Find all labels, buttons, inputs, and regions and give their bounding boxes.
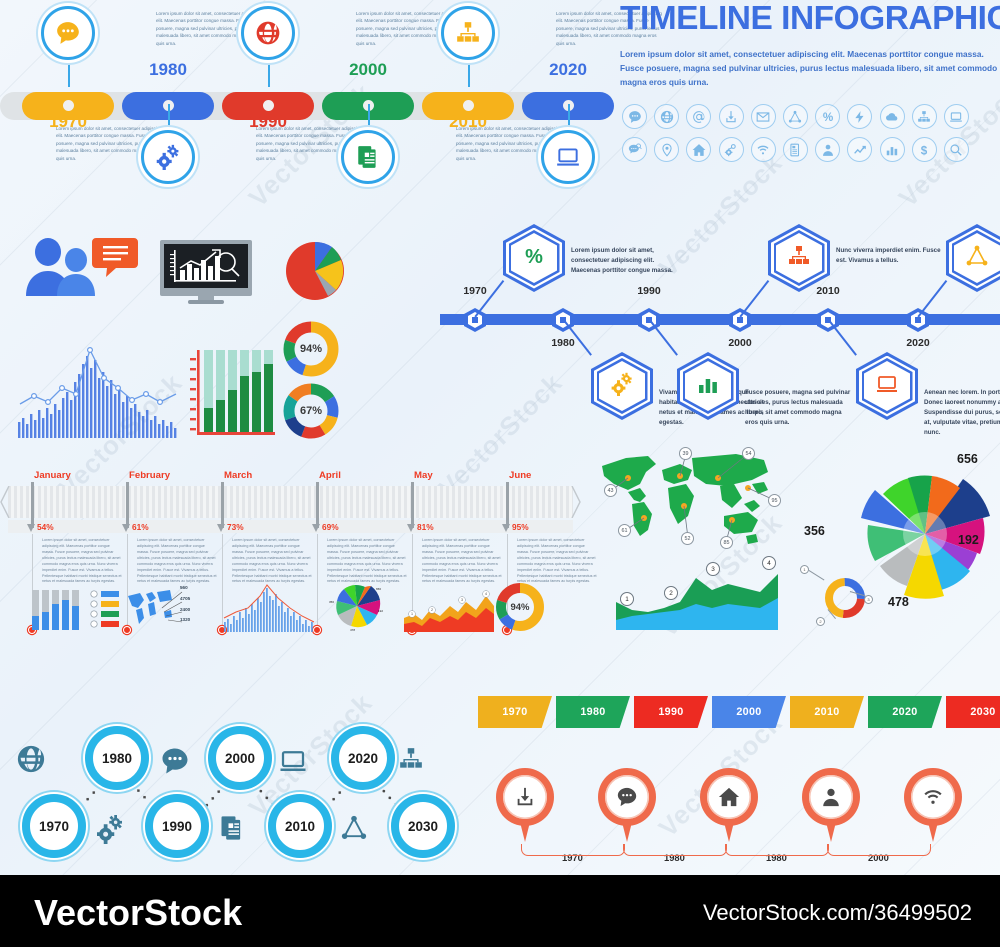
hex-description: Aenean nec lorem. In porttitor. Donec la… bbox=[924, 388, 1000, 438]
april-rose-chart: 656192 478356 bbox=[328, 578, 386, 634]
circle-year-label: 2030 bbox=[408, 819, 438, 834]
comment-search-icon[interactable] bbox=[622, 137, 647, 162]
area-marker[interactable]: 3 bbox=[706, 562, 720, 576]
svg-text:$: $ bbox=[921, 144, 928, 157]
donut-callout: 1 bbox=[800, 565, 809, 574]
month-stem bbox=[126, 482, 129, 528]
february-legend: 560470524001320 bbox=[180, 586, 220, 629]
timeline-icon-circle[interactable] bbox=[141, 130, 195, 184]
ribbon-year-label: 2020 bbox=[892, 706, 917, 718]
download-icon bbox=[503, 775, 547, 819]
hex-icon-badge[interactable] bbox=[946, 224, 1000, 292]
month-description: Lorem ipsum dolor sit amet, consectetuer… bbox=[42, 538, 122, 585]
hex-year: 2020 bbox=[901, 337, 935, 349]
laptop-icon bbox=[278, 746, 308, 781]
map-point-label[interactable]: 85 bbox=[720, 536, 733, 549]
svg-text:1: 1 bbox=[411, 612, 413, 616]
network-triangle-icon[interactable] bbox=[783, 104, 808, 129]
pin-hook bbox=[521, 844, 625, 856]
area-chart-markers: 1234 bbox=[612, 560, 782, 630]
hex-year: 2000 bbox=[723, 337, 757, 349]
svg-text:%: % bbox=[525, 246, 543, 268]
hex-year: 1990 bbox=[632, 285, 666, 297]
chat-icon bbox=[605, 775, 649, 819]
svg-text:2: 2 bbox=[431, 608, 433, 612]
month-description: Lorem ipsum dolor sit amet, consectetuer… bbox=[137, 538, 217, 585]
donut-callout: 2 bbox=[816, 617, 825, 626]
timeline-stem bbox=[568, 104, 570, 132]
map-point-label[interactable]: 54 bbox=[742, 447, 755, 460]
ribbon-year[interactable]: 2030 bbox=[946, 696, 1000, 728]
month-label: January bbox=[34, 470, 71, 481]
hex-icon-badge[interactable] bbox=[856, 352, 918, 420]
circle-year-label: 1980 bbox=[102, 751, 132, 766]
june-donut-label: 94% bbox=[495, 582, 545, 632]
rose-label-478: 478 bbox=[888, 595, 909, 609]
gear-link-icon[interactable] bbox=[719, 137, 744, 162]
circle-year-2000[interactable]: 2000 bbox=[208, 726, 272, 790]
footer-url: VectorStock.com/36499502 bbox=[703, 900, 972, 926]
month-label: February bbox=[129, 470, 170, 481]
gears-icon bbox=[95, 814, 125, 849]
month-arrow bbox=[27, 524, 35, 532]
february-legend-value: 560 bbox=[180, 586, 220, 591]
circle-year-2020[interactable]: 2020 bbox=[331, 726, 395, 790]
circle-year-2030[interactable]: 2030 bbox=[391, 794, 455, 858]
timeline-icon-circle[interactable] bbox=[441, 6, 495, 60]
wifi-icon bbox=[911, 775, 955, 819]
svg-text:192: 192 bbox=[378, 609, 383, 613]
timeline-stem bbox=[368, 104, 370, 132]
map-point-label[interactable]: 52 bbox=[681, 532, 694, 545]
hex-description: Nunc viverra imperdiet enim. Fusce est. … bbox=[836, 246, 944, 266]
icon-row-1: % bbox=[622, 104, 969, 129]
ribbon-year-label: 2000 bbox=[736, 706, 761, 718]
page-title-block: TIMELINE INFOGRAPHICS Lorem ipsum dolor … bbox=[620, 2, 998, 89]
laptop-icon[interactable] bbox=[944, 104, 969, 129]
cloud-icon[interactable] bbox=[880, 104, 905, 129]
timeline-segment-dot bbox=[463, 100, 474, 111]
user-icon bbox=[809, 775, 853, 819]
rose-label-656: 656 bbox=[957, 452, 978, 466]
january-legend bbox=[90, 590, 122, 630]
month-arrow bbox=[502, 524, 510, 532]
timeline-segment-dot bbox=[263, 100, 274, 111]
world-map-labels: 43613952549585 bbox=[596, 442, 796, 562]
hex-leader-line bbox=[739, 280, 769, 317]
month-label: May bbox=[414, 470, 433, 481]
month-label: June bbox=[509, 470, 531, 481]
month-percent: 73% bbox=[227, 522, 244, 532]
documents-icon bbox=[218, 814, 246, 847]
ribbon-year-label: 1990 bbox=[658, 706, 683, 718]
circle-year-label: 1990 bbox=[162, 819, 192, 834]
hex-icon-badge[interactable] bbox=[677, 352, 739, 420]
mail-icon[interactable] bbox=[751, 104, 776, 129]
hex-year: 1970 bbox=[458, 285, 492, 297]
month-label: March bbox=[224, 470, 252, 481]
bar-chart-icon[interactable] bbox=[880, 137, 905, 162]
area-marker[interactable]: 2 bbox=[664, 586, 678, 600]
donut-94-label: 94% bbox=[282, 320, 340, 378]
month-stem bbox=[31, 482, 34, 528]
march-chart bbox=[222, 582, 317, 632]
ribbon-year[interactable]: 1970 bbox=[478, 696, 552, 728]
map-point-label[interactable]: 61 bbox=[618, 524, 631, 537]
circle-year-label: 2020 bbox=[348, 751, 378, 766]
search-icon[interactable] bbox=[944, 137, 969, 162]
footer-bar: VectorStock VectorStock.com/36499502 bbox=[0, 875, 1000, 947]
february-legend-value: 2400 bbox=[180, 608, 220, 613]
map-pin-home-icon[interactable] bbox=[700, 768, 758, 844]
green-bar-chart bbox=[186, 346, 276, 440]
ribbon-year-label: 1980 bbox=[580, 706, 605, 718]
page-title: TIMELINE INFOGRAPHICS bbox=[620, 2, 998, 36]
svg-text:356: 356 bbox=[329, 600, 334, 604]
user-icon[interactable] bbox=[815, 137, 840, 162]
month-guideline bbox=[317, 534, 318, 628]
circle-year-label: 2010 bbox=[285, 819, 315, 834]
hex-node[interactable] bbox=[907, 308, 929, 332]
ribbon-year[interactable]: 1980 bbox=[556, 696, 630, 728]
percent-icon[interactable]: % bbox=[815, 104, 840, 129]
page-subtitle: Lorem ipsum dolor sit amet, consectetuer… bbox=[620, 47, 998, 90]
month-stem bbox=[506, 482, 509, 528]
trend-up-icon[interactable] bbox=[847, 137, 872, 162]
pin-hook bbox=[725, 844, 829, 856]
timeline-icon-circle[interactable] bbox=[41, 6, 95, 60]
february-legend-lines bbox=[160, 588, 184, 630]
network-triangle-icon bbox=[340, 814, 368, 847]
month-stem bbox=[316, 482, 319, 528]
home-icon[interactable] bbox=[686, 137, 711, 162]
month-percent: 81% bbox=[417, 522, 434, 532]
wifi-icon[interactable] bbox=[751, 137, 776, 162]
footer-brand: VectorStock bbox=[34, 892, 242, 934]
hex-description: Lorem ipsum dolor sit amet, consectetuer… bbox=[571, 246, 679, 276]
month-percent: 69% bbox=[322, 522, 339, 532]
sitemap-icon bbox=[398, 746, 424, 777]
hex-node[interactable] bbox=[464, 308, 486, 332]
rose-polar-chart bbox=[845, 448, 1000, 608]
donut-67-label: 67% bbox=[282, 382, 340, 440]
pin-timeline: 1970198019802000 bbox=[488, 768, 1000, 873]
month-arrow bbox=[122, 524, 130, 532]
ribbon-year[interactable]: 2000 bbox=[712, 696, 786, 728]
rose-label-192: 192 bbox=[958, 533, 979, 547]
month-percent: 54% bbox=[37, 522, 54, 532]
area-marker[interactable]: 1 bbox=[620, 592, 634, 606]
hex-year: 1980 bbox=[546, 337, 580, 349]
infographic-canvas: VectorStock VectorStock VectorStock Vect… bbox=[0, 0, 1000, 947]
month-description: Lorem ipsum dolor sit amet, consectetuer… bbox=[422, 538, 502, 585]
area-marker[interactable]: 4 bbox=[762, 556, 776, 570]
month-stem bbox=[221, 482, 224, 528]
monitor-analytics-icon bbox=[160, 240, 252, 309]
timeline-icon-circle[interactable] bbox=[241, 6, 295, 60]
month-percent: 95% bbox=[512, 522, 529, 532]
icon-row-2: $ bbox=[622, 137, 969, 162]
month-stem bbox=[411, 482, 414, 528]
timeline-icon-circle[interactable] bbox=[341, 130, 395, 184]
chat-icon[interactable] bbox=[622, 104, 647, 129]
hex-leader-line bbox=[917, 280, 947, 317]
february-legend-value: 4705 bbox=[180, 597, 220, 602]
svg-text:%: % bbox=[822, 111, 833, 124]
map-point-label[interactable]: 39 bbox=[679, 447, 692, 460]
download-icon[interactable] bbox=[719, 104, 744, 129]
month-arrow bbox=[312, 524, 320, 532]
month-description: Lorem ipsum dolor sit amet, consectetuer… bbox=[517, 538, 597, 585]
pie-chart bbox=[284, 240, 346, 302]
svg-text:478: 478 bbox=[350, 628, 355, 632]
pin-hook bbox=[623, 844, 727, 856]
rose-label-356: 356 bbox=[804, 524, 825, 538]
svg-text:4: 4 bbox=[485, 592, 487, 596]
map-pin-wifi-icon[interactable] bbox=[904, 768, 962, 844]
june-donut: 94% bbox=[495, 582, 545, 632]
hex-icon-badge[interactable]: % bbox=[503, 224, 565, 292]
ribbon-year-label: 2010 bbox=[814, 706, 839, 718]
map-pin-user-icon[interactable] bbox=[802, 768, 860, 844]
bottom-circle-timeline: 1980200020201970199020102030 bbox=[0, 706, 470, 871]
hex-icon-badge[interactable] bbox=[591, 352, 653, 420]
circle-year-2010[interactable]: 2010 bbox=[268, 794, 332, 858]
circle-year-1970[interactable]: 1970 bbox=[22, 794, 86, 858]
timeline-segment-dot bbox=[63, 100, 74, 111]
ribbon-year-label: 2030 bbox=[970, 706, 995, 718]
hex-node[interactable] bbox=[729, 308, 751, 332]
document-icon[interactable] bbox=[783, 137, 808, 162]
month-arrow bbox=[217, 524, 225, 532]
ribbon-year-bar: 1970198019902000201020202030 bbox=[478, 696, 1000, 728]
chat-icon bbox=[160, 746, 190, 781]
ribbon-year[interactable]: 2010 bbox=[790, 696, 864, 728]
hex-timeline: 197019801990200020102020%Lorem ipsum dol… bbox=[440, 222, 1000, 442]
february-legend-value: 1320 bbox=[180, 618, 220, 623]
circle-year-label: 2000 bbox=[225, 751, 255, 766]
svg-text:656: 656 bbox=[376, 587, 381, 591]
month-label: April bbox=[319, 470, 341, 481]
hex-icon-badge[interactable] bbox=[768, 224, 830, 292]
at-icon[interactable] bbox=[686, 104, 711, 129]
pin-hook bbox=[827, 844, 931, 856]
january-chart bbox=[30, 588, 86, 632]
top-timeline-items: 1970Lorem ipsum dolor sit amet, consecte… bbox=[0, 0, 620, 210]
location-pin-icon[interactable] bbox=[654, 137, 679, 162]
ribbon-year[interactable]: 2020 bbox=[868, 696, 942, 728]
donut-67: 67% bbox=[282, 382, 340, 440]
timeline-stem bbox=[168, 104, 170, 132]
map-point-label[interactable]: 43 bbox=[604, 484, 617, 497]
month-description: Lorem ipsum dolor sit amet, consectetuer… bbox=[232, 538, 312, 585]
map-pin-download-icon[interactable] bbox=[496, 768, 554, 844]
hex-description: Fusce posuere, magna sed pulvinar ultric… bbox=[745, 388, 853, 428]
timeline-year: 1980 bbox=[146, 60, 190, 80]
globe-icon bbox=[16, 744, 46, 779]
histogram-chart bbox=[14, 338, 184, 438]
sitemap-icon[interactable] bbox=[912, 104, 937, 129]
users-chat-icon bbox=[18, 236, 138, 303]
map-point-label[interactable]: 95 bbox=[768, 494, 781, 507]
circle-year-1990[interactable]: 1990 bbox=[145, 794, 209, 858]
timeline-icon-circle[interactable] bbox=[541, 130, 595, 184]
month-arrow bbox=[407, 524, 415, 532]
flash-icon[interactable] bbox=[847, 104, 872, 129]
timeline-year: 2020 bbox=[546, 60, 590, 80]
svg-text:3: 3 bbox=[461, 598, 463, 602]
ribbon-year[interactable]: 1990 bbox=[634, 696, 708, 728]
month-percent: 61% bbox=[132, 522, 149, 532]
globe-icon[interactable] bbox=[654, 104, 679, 129]
ribbon-year-label: 1970 bbox=[502, 706, 527, 718]
timeline-year: 2000 bbox=[346, 60, 390, 80]
dollar-icon[interactable]: $ bbox=[912, 137, 937, 162]
circle-year-1980[interactable]: 1980 bbox=[85, 726, 149, 790]
home-icon bbox=[707, 775, 751, 819]
donut-94: 94% bbox=[282, 320, 340, 378]
circle-year-label: 1970 bbox=[39, 819, 69, 834]
may-area-chart: 12 34 bbox=[400, 584, 498, 632]
map-pin-chat-icon[interactable] bbox=[598, 768, 656, 844]
